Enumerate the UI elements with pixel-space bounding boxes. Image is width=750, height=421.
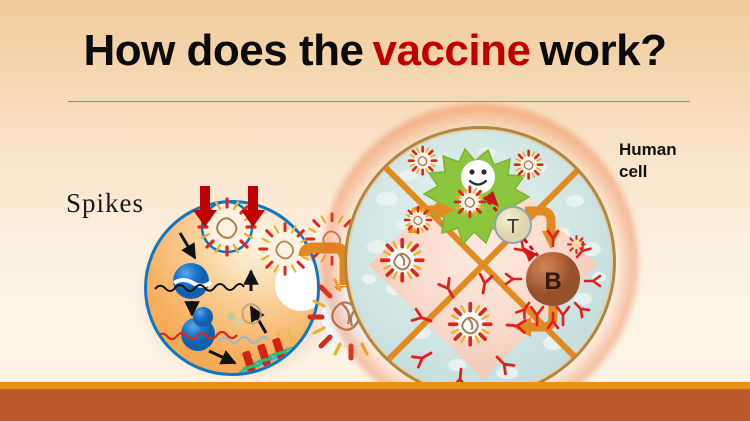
b-cell: B: [526, 252, 580, 306]
blue-ribosome-upper: [173, 263, 211, 299]
b-cell-label: B: [544, 268, 561, 295]
virus-left-small: [405, 207, 431, 233]
human-immune-cell: T B: [344, 126, 616, 398]
virus-top-left: [409, 147, 436, 174]
transport-arrow: [209, 351, 235, 363]
virus-left-quadrant: [382, 240, 423, 281]
mrna-strand-gray: [219, 337, 268, 343]
human-cell-contents: T B: [347, 129, 616, 398]
footer-bar: [0, 389, 750, 421]
title-text-part2: work?: [539, 26, 666, 75]
footer-accent-bar: [0, 382, 750, 389]
blue-ribosome-lower: [181, 307, 215, 351]
title-text-accent: vaccine: [372, 26, 530, 75]
virus-on-apc: [455, 187, 485, 217]
t-cell-label: T: [507, 216, 519, 238]
slide-canvas: How does thevaccinework? Spikes Human ce…: [0, 0, 750, 421]
t-cell: T: [495, 207, 531, 243]
antigen-fragment: [568, 236, 585, 253]
spikes-label: Spikes: [66, 188, 144, 219]
human-cell-label-line1: Human: [619, 139, 709, 161]
title-divider-rule: [68, 101, 690, 102]
uptake-arrow: [180, 233, 195, 258]
page-title: How does thevaccinework?: [0, 28, 750, 74]
red-down-arrow-left: [192, 186, 218, 228]
virus-top-right: [515, 151, 542, 178]
virus-neutralized-bottom: [450, 304, 491, 345]
human-cell-label-line2: cell: [619, 161, 709, 183]
human-cell-label: Human cell: [619, 139, 709, 183]
title-text-part1: How does the: [83, 26, 363, 75]
